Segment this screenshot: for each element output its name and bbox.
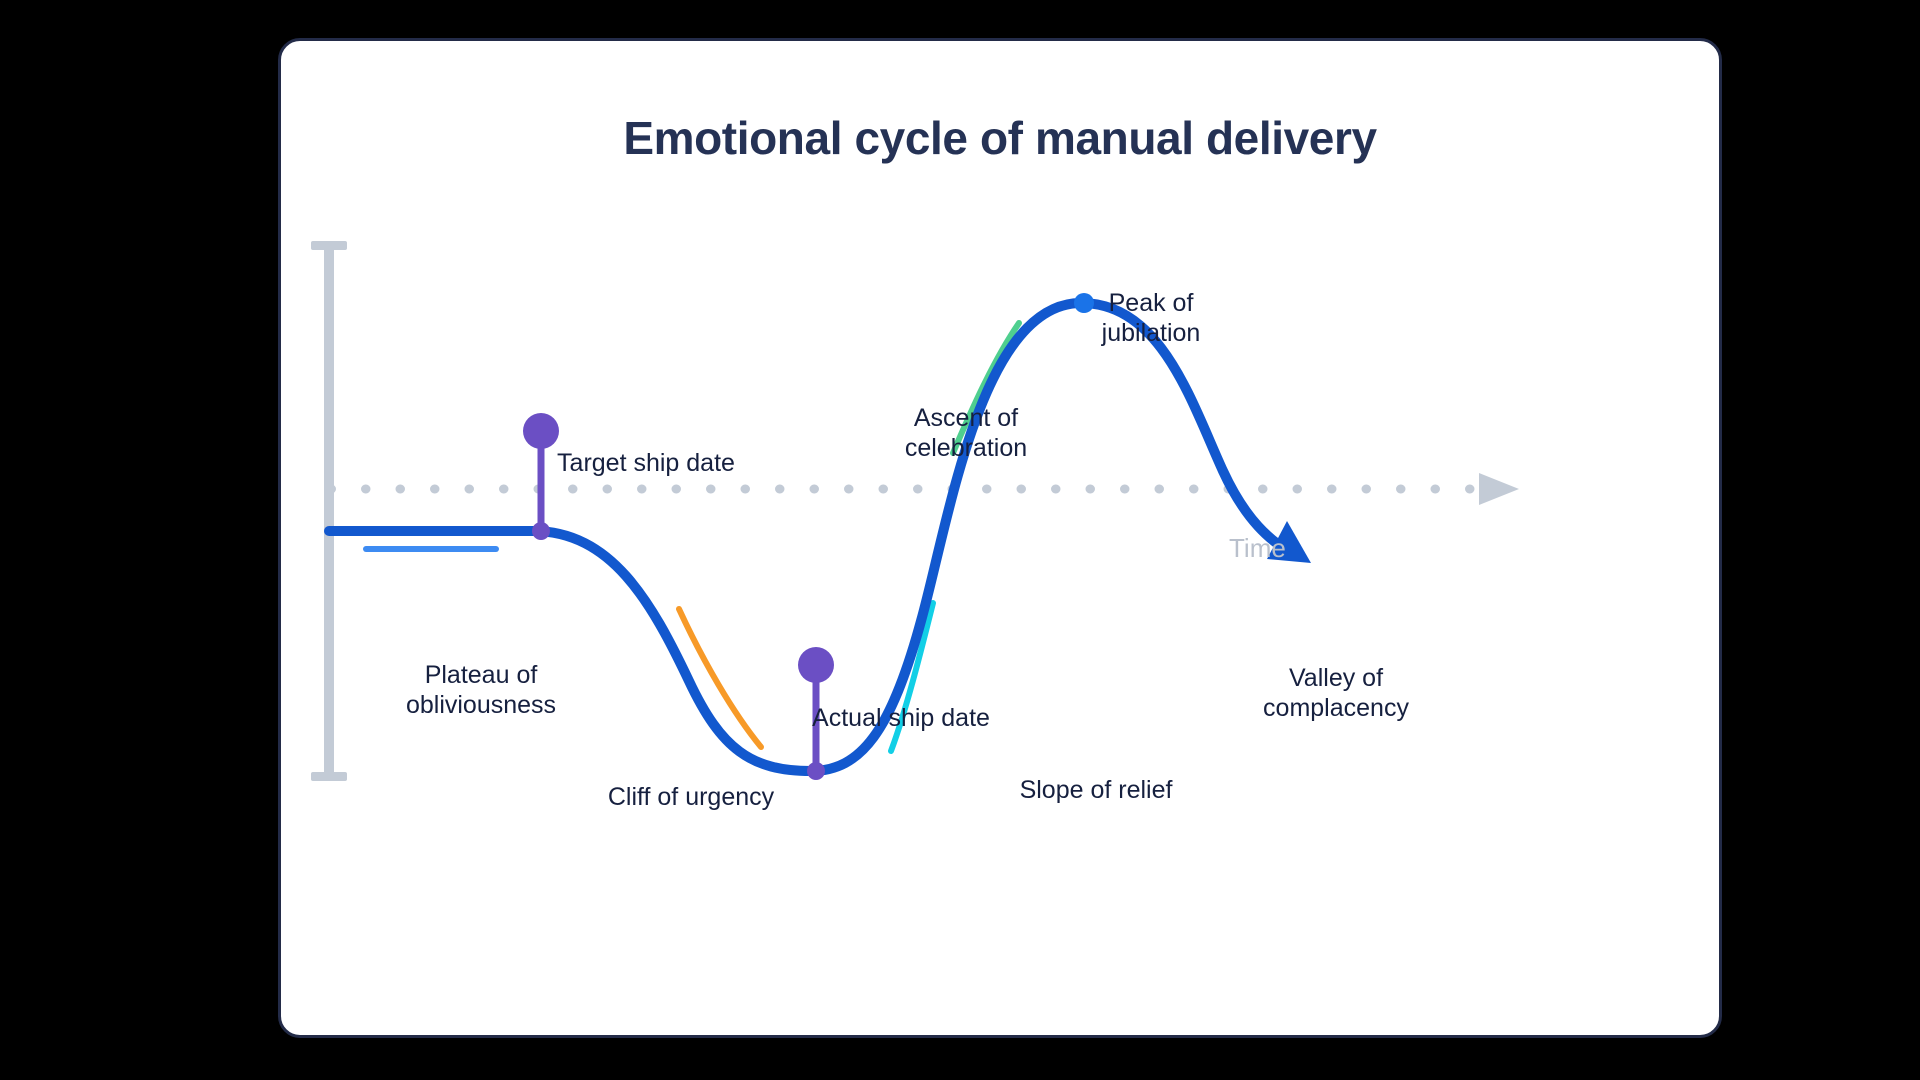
label-plateau-of-obliviousness: Plateau of obliviousness: [326, 661, 636, 720]
chart-plot-area: [281, 41, 1722, 1038]
label-peak-of-jubilation: Peak of jubilation: [1021, 289, 1281, 348]
label-slope-of-relief: Slope of relief: [936, 776, 1256, 806]
label-actual-ship-date: Actual ship date: [731, 704, 1071, 734]
label-time-axis: Time: [1229, 533, 1409, 564]
label-valley-of-complacency: Valley of complacency: [1196, 664, 1476, 723]
label-ascent-of-celebration: Ascent of celebration: [826, 404, 1106, 463]
label-cliff-of-urgency: Cliff of urgency: [531, 783, 851, 813]
label-target-ship-date: Target ship date: [466, 449, 826, 479]
chart-card: Emotional cycle of manual delivery: [278, 38, 1722, 1038]
page-root: Emotional cycle of manual delivery: [0, 0, 1920, 1080]
